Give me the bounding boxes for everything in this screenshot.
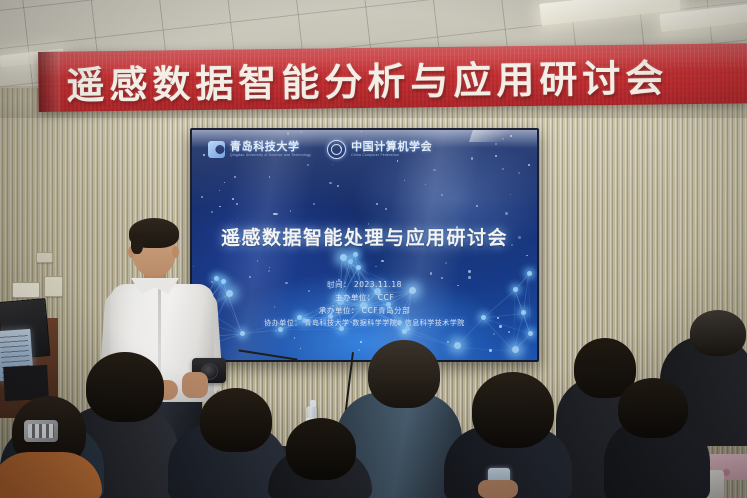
ccf-logo-en: China Computer Federation xyxy=(351,154,432,158)
camera-hand xyxy=(182,372,208,398)
audience-head xyxy=(618,378,688,438)
projection-screen: 青岛科技大学 Qingdao University of Science and… xyxy=(190,128,539,362)
wall-outlet-panel[interactable] xyxy=(36,252,53,263)
hair-clip xyxy=(24,420,58,442)
slide-title: 遥感数据智能处理与应用研讨会 xyxy=(192,223,537,250)
audience-head xyxy=(86,352,164,422)
presenter-hair xyxy=(129,218,179,248)
banner-title: 遥感数据智能分析与应用研讨会 xyxy=(66,43,747,111)
wall-thermostat-panel[interactable] xyxy=(44,276,63,297)
slide-meta-block: 时间： 2023.11.18 主办单位： CCF 承办单位： CCF青岛分部 协… xyxy=(192,278,537,330)
slide-meta-host: 主办单位： CCF xyxy=(192,291,537,304)
audience-head xyxy=(200,388,272,452)
audience-head xyxy=(690,310,746,356)
slide-meta-date: 时间： 2023.11.18 xyxy=(192,278,537,291)
audience-head xyxy=(286,418,356,480)
screen-crinkle-glare xyxy=(469,130,533,142)
conference-photo: 遥感数据智能分析与应用研讨会 青岛科技大学 Qingdao University… xyxy=(0,0,747,498)
slide-meta-coorganizer: 协办单位： 青岛科技大学 数据科学学院、信息科学技术学院 xyxy=(192,317,537,330)
phone-hand xyxy=(478,480,518,498)
event-banner: 遥感数据智能分析与应用研讨会 xyxy=(38,43,747,112)
slide-meta-organizer: 承办单位： CCF青岛分部 xyxy=(192,304,537,317)
presenter-ear xyxy=(172,246,179,258)
audience-head xyxy=(472,372,554,448)
qust-logo-en: Qingdao University of Science and Techno… xyxy=(230,154,311,158)
banner-left-fold xyxy=(38,52,61,112)
audience-head xyxy=(368,340,440,408)
wall-switch-panel[interactable] xyxy=(12,282,40,298)
